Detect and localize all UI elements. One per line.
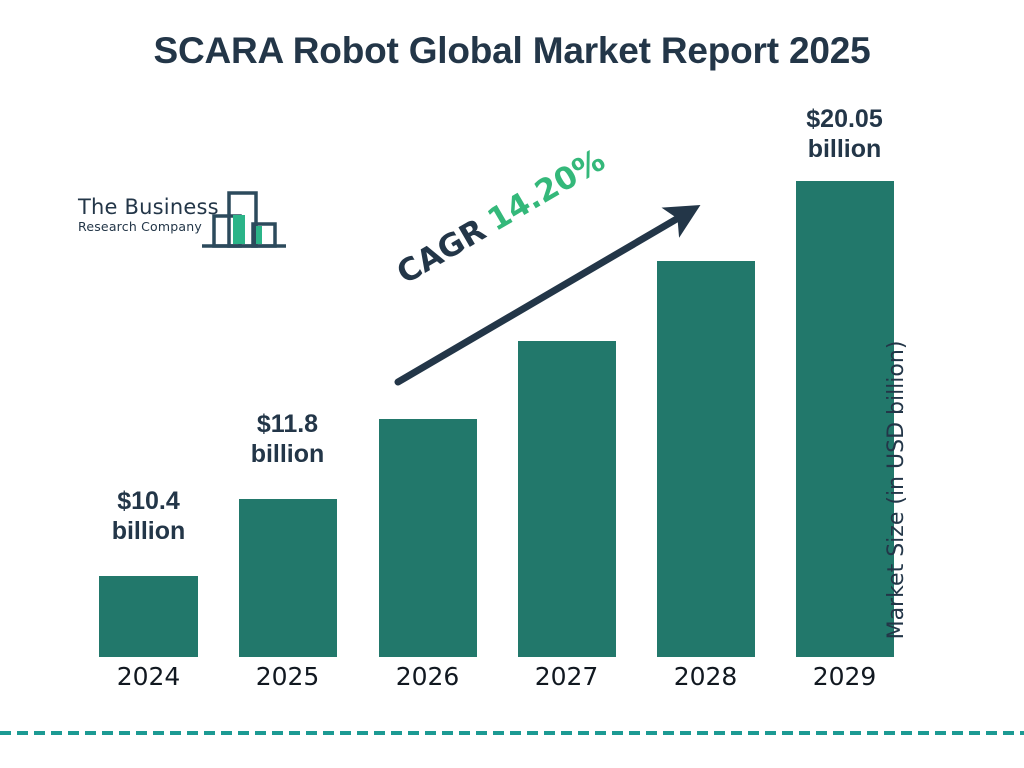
bar-value-2024-line1: $10.4 (82, 486, 215, 516)
bar-value-2024-line2: billion (82, 516, 215, 546)
x-tick-2026: 2026 (361, 662, 494, 692)
bar-value-2029-line2: billion (778, 134, 911, 164)
bar-2026[interactable] (379, 419, 477, 657)
y-axis-label: Market Size (in USD billion) (884, 330, 909, 650)
bar-2029[interactable] (796, 181, 894, 657)
x-tick-2025: 2025 (221, 662, 354, 692)
bar-2024[interactable] (99, 576, 198, 657)
bar-value-2025-line2: billion (221, 439, 354, 469)
x-tick-2028: 2028 (639, 662, 772, 692)
footer-divider (0, 731, 1024, 735)
bar-value-2029: $20.05 billion (778, 104, 911, 164)
bar-value-2024: $10.4 billion (82, 486, 215, 546)
x-tick-2029: 2029 (778, 662, 911, 692)
bar-value-2025-line1: $11.8 (221, 409, 354, 439)
bar-2025[interactable] (239, 499, 337, 657)
x-tick-2027: 2027 (500, 662, 633, 692)
x-tick-2024: 2024 (82, 662, 215, 692)
bar-value-2025: $11.8 billion (221, 409, 354, 469)
chart-page: SCARA Robot Global Market Report 2025 Th… (0, 0, 1024, 768)
growth-arrow (380, 190, 720, 400)
bar-value-2029-line1: $20.05 (778, 104, 911, 134)
